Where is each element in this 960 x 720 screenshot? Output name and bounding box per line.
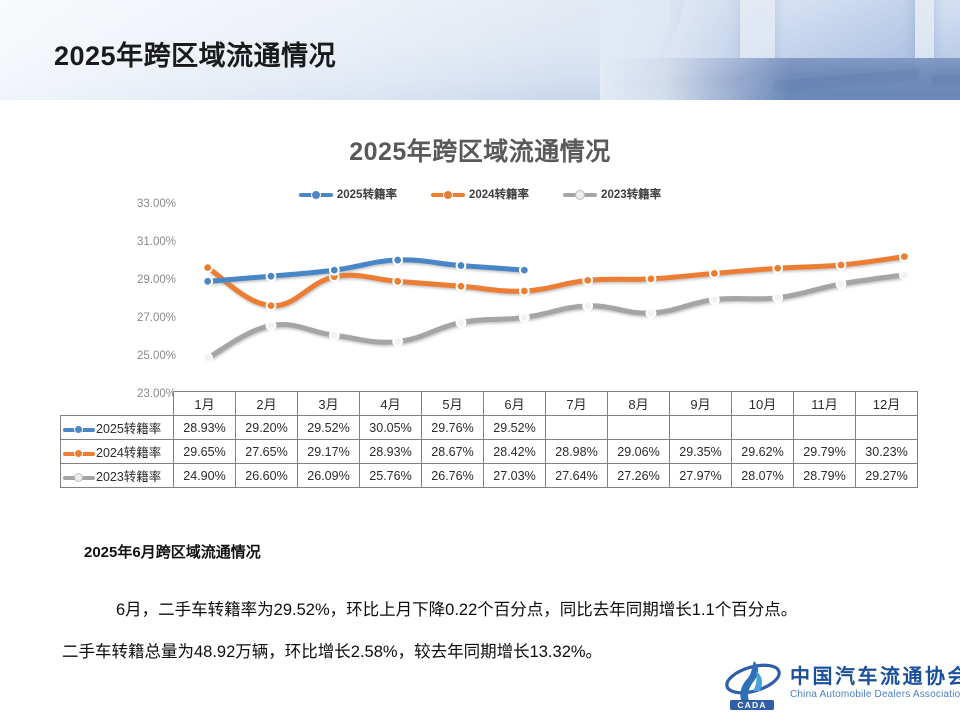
series-data-point[interactable] (267, 301, 276, 310)
table-column-header: 4月 (360, 392, 422, 416)
table-cell: 27.03% (484, 464, 546, 488)
organization-logo: CADA 中国汽车流通协会 China Automobile Dealers A… (724, 655, 952, 713)
table-series-label: 2024转籍率 (61, 440, 174, 464)
table-series-label: 2025转籍率 (61, 416, 174, 440)
notes-heading: 2025年6月跨区域流通情况 (84, 541, 261, 562)
table-cell: 29.62% (732, 440, 794, 464)
table-cell: 26.76% (422, 464, 484, 488)
table-header-row: 1月2月3月4月5月6月7月8月9月10月11月12月 (61, 392, 918, 416)
table-cell: 29.27% (856, 464, 918, 488)
table-cell: 27.97% (670, 464, 732, 488)
series-data-point[interactable] (583, 301, 592, 310)
table-cell (794, 416, 856, 440)
header-floor-fade (600, 0, 790, 100)
table-cell (670, 416, 732, 440)
cada-emblem-icon: CADA (724, 657, 782, 711)
header-decorative-cubes (600, 0, 960, 100)
table-column-header: 7月 (546, 392, 608, 416)
table-cell: 24.90% (174, 464, 236, 488)
table-cell: 28.98% (546, 440, 608, 464)
table-column-header: 10月 (732, 392, 794, 416)
series-data-point[interactable] (520, 287, 529, 296)
table-cell: 25.76% (360, 464, 422, 488)
table-cell: 27.65% (236, 440, 298, 464)
series-data-point[interactable] (457, 318, 466, 327)
table-series-name: 2025转籍率 (96, 422, 161, 436)
series-data-point[interactable] (267, 272, 276, 281)
series-data-point[interactable] (583, 276, 592, 285)
table-header: 1月2月3月4月5月6月7月8月9月10月11月12月 (61, 392, 918, 416)
line-marker-icon (63, 424, 95, 435)
y-axis-tick: 29.00% (110, 274, 176, 286)
table-cell: 26.60% (236, 464, 298, 488)
y-axis-tick: 25.00% (110, 350, 176, 362)
chart-data-table: 1月2月3月4月5月6月7月8月9月10月11月12月 2025转籍率28.93… (60, 391, 918, 488)
table-column-header: 12月 (856, 392, 918, 416)
series-line (208, 257, 905, 306)
table-column-header: 9月 (670, 392, 732, 416)
table-cell: 29.52% (484, 416, 546, 440)
table-cell: 29.65% (174, 440, 236, 464)
table-cell: 28.79% (794, 464, 856, 488)
svg-text:CADA: CADA (737, 700, 766, 710)
series-data-point[interactable] (773, 293, 782, 302)
y-axis-tick: 31.00% (110, 236, 176, 248)
series-data-point[interactable] (773, 264, 782, 273)
table-cell: 27.26% (608, 464, 670, 488)
table-column-header: 3月 (298, 392, 360, 416)
series-data-point[interactable] (457, 282, 466, 291)
series-data-point[interactable] (330, 331, 339, 340)
table-cell (608, 416, 670, 440)
series-data-point[interactable] (203, 354, 212, 363)
table-cell: 30.23% (856, 440, 918, 464)
logo-name-cn: 中国汽车流通协会 (790, 667, 960, 688)
series-data-point[interactable] (900, 252, 909, 261)
table-series-label: 2023转籍率 (61, 464, 174, 488)
table-body: 2025转籍率28.93%29.20%29.52%30.05%29.76%29.… (61, 416, 918, 488)
notes-paragraph-1: 6月，二手车转籍率为29.52%，环比上月下降0.22个百分点，同比去年同期增长… (62, 596, 942, 620)
table-cell (546, 416, 608, 440)
table-cell: 28.93% (174, 416, 236, 440)
table-cell: 30.05% (360, 416, 422, 440)
series-data-point[interactable] (900, 270, 909, 279)
table-column-header: 2月 (236, 392, 298, 416)
table-cell: 29.52% (298, 416, 360, 440)
chart-series-2025转籍率 (203, 256, 528, 286)
table-cell: 27.64% (546, 464, 608, 488)
series-data-point[interactable] (647, 309, 656, 318)
table-column-header: 1月 (174, 392, 236, 416)
y-axis-tick: 33.00% (110, 198, 176, 210)
series-data-point[interactable] (647, 274, 656, 283)
table-column-header: 11月 (794, 392, 856, 416)
series-data-point[interactable] (457, 261, 466, 270)
table-cell: 28.67% (422, 440, 484, 464)
series-data-point[interactable] (393, 256, 402, 265)
table-cell: 28.93% (360, 440, 422, 464)
series-data-point[interactable] (203, 263, 212, 272)
logo-text-block: 中国汽车流通协会 China Automobile Dealers Associ… (790, 667, 960, 701)
table-column-header: 8月 (608, 392, 670, 416)
series-data-point[interactable] (837, 280, 846, 289)
series-data-point[interactable] (330, 266, 339, 275)
series-data-point[interactable] (710, 295, 719, 304)
series-data-point[interactable] (520, 266, 529, 275)
line-marker-icon (63, 448, 95, 459)
table-column-header: 5月 (422, 392, 484, 416)
table-cell: 29.20% (236, 416, 298, 440)
table-cell: 28.07% (732, 464, 794, 488)
table-cell: 29.79% (794, 440, 856, 464)
y-axis-tick: 27.00% (110, 312, 176, 324)
series-data-point[interactable] (393, 337, 402, 346)
table-cell: 29.06% (608, 440, 670, 464)
series-data-point[interactable] (203, 277, 212, 286)
page-title: 2025年跨区域流通情况 (54, 34, 336, 73)
table-cell: 28.42% (484, 440, 546, 464)
table-corner-cell (61, 392, 174, 416)
line-marker-icon (63, 472, 95, 483)
series-data-point[interactable] (837, 261, 846, 270)
slide-root: 2025年跨区域流通情况 2025年跨区域流通情况 2025转籍率 2024转籍… (0, 0, 960, 720)
series-data-point[interactable] (710, 269, 719, 278)
table-row: 2024转籍率29.65%27.65%29.17%28.93%28.67%28.… (61, 440, 918, 464)
table-cell: 29.76% (422, 416, 484, 440)
table-cell: 29.35% (670, 440, 732, 464)
chart-title: 2025年跨区域流通情况 (0, 132, 960, 168)
series-data-point[interactable] (520, 313, 529, 322)
chart-series-2024转籍率 (203, 252, 908, 310)
table-row: 2025转籍率28.93%29.20%29.52%30.05%29.76%29.… (61, 416, 918, 440)
table-cell (732, 416, 794, 440)
table-row: 2023转籍率24.90%26.60%26.09%25.76%26.76%27.… (61, 464, 918, 488)
slide-header-band: 2025年跨区域流通情况 (0, 0, 960, 100)
table-cell (856, 416, 918, 440)
table-series-name: 2024转籍率 (96, 446, 161, 460)
series-data-point[interactable] (267, 321, 276, 330)
table-cell: 26.09% (298, 464, 360, 488)
table-series-name: 2023转籍率 (96, 470, 161, 484)
logo-name-en: China Automobile Dealers Association (790, 690, 960, 701)
series-data-point[interactable] (393, 277, 402, 286)
table-column-header: 6月 (484, 392, 546, 416)
table-cell: 29.17% (298, 440, 360, 464)
cada-emblem-svg: CADA (724, 657, 782, 711)
